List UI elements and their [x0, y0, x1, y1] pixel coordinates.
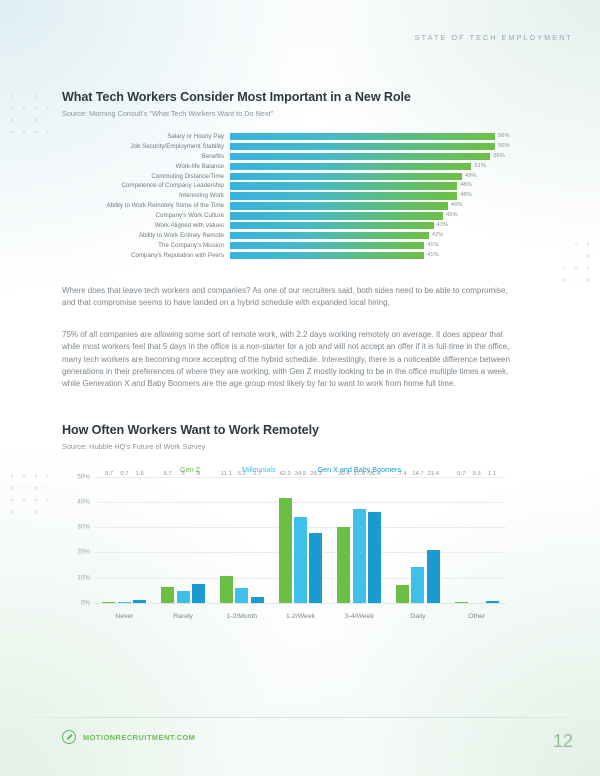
- page-header-eyebrow: STATE OF TECH EMPLOYMENT: [415, 33, 573, 42]
- bar-value-label: 1.1: [488, 471, 496, 477]
- hbar-fill: [230, 202, 448, 209]
- bar: 6.2: [235, 588, 248, 604]
- hbar-row: Company's Work Culture45%: [62, 211, 514, 220]
- hbar-value-label: 41%: [424, 251, 439, 260]
- horizontal-bar-chart: Salary or Hourly Pay56%Job Security/Empl…: [62, 132, 514, 260]
- section1-source: Source: Morning Consult's "What Tech Wor…: [62, 109, 514, 118]
- y-axis-tick-label: 0%: [81, 599, 90, 606]
- bar-column: 42.2: [279, 478, 292, 604]
- hbar-category-label: Benefits: [62, 152, 230, 161]
- hbar-fill: [230, 212, 443, 219]
- hbar-track: 41%: [230, 251, 514, 260]
- hbar-fill: [230, 192, 457, 199]
- hbar-value-label: 46%: [448, 201, 463, 210]
- y-axis-tick-label: 20%: [77, 549, 90, 556]
- bar-group: 0.70.71.6: [95, 478, 154, 604]
- x-axis-category-label: 1-2/Month: [212, 613, 271, 620]
- bar-value-label: 6.2: [238, 471, 246, 477]
- bar: 6.7: [161, 587, 174, 604]
- bar-column: 6.7: [161, 478, 174, 604]
- bar-column: 8: [192, 478, 205, 604]
- bar-value-label: 14.7: [412, 471, 423, 477]
- hbar-row: Benefits55%: [62, 152, 514, 161]
- bar-value-label: 21.4: [428, 471, 439, 477]
- hbar-value-label: 48%: [457, 181, 472, 190]
- chart-plot-area: 0.70.71.66.75811.16.22.742.234.528.330.4…: [95, 478, 506, 604]
- bar-value-label: 0.7: [457, 471, 465, 477]
- bar: 7.4: [396, 585, 409, 604]
- page-content: What Tech Workers Consider Most Importan…: [62, 90, 514, 620]
- paragraph-1: Where does that leave tech workers and c…: [62, 285, 514, 310]
- bar-column: 6.2: [235, 478, 248, 604]
- x-axis-category-label: 3-4/Week: [330, 613, 389, 620]
- bar-column: 0.7: [455, 478, 468, 604]
- hbar-fill: [230, 232, 429, 239]
- hbar-category-label: Work-life Balance: [62, 162, 230, 171]
- bar-column: 36.4: [368, 478, 381, 604]
- bar: 11.1: [220, 576, 233, 604]
- hbar-fill: [230, 173, 462, 180]
- bar-group: 30.437.836.4: [330, 478, 389, 604]
- footer-brand[interactable]: MOTIONRECRUITMENT.COM: [62, 730, 195, 744]
- hbar-track: 41%: [230, 241, 514, 250]
- bar-value-label: 6.7: [164, 471, 172, 477]
- bar-value-label: 2.7: [253, 471, 261, 477]
- bar-column: 7.4: [396, 478, 409, 604]
- hbar-category-label: Competence of Company Leadership: [62, 181, 230, 190]
- bar-group: 11.16.22.7: [212, 478, 271, 604]
- bar-column: 11.1: [220, 478, 233, 604]
- hbar-fill: [230, 242, 424, 249]
- hbar-fill: [230, 133, 495, 140]
- x-axis-category-label: 1-2/Week: [271, 613, 330, 620]
- hbar-row: Work-life Balance51%: [62, 162, 514, 171]
- hbar-track: 45%: [230, 211, 514, 220]
- bar-column: 0.7: [118, 478, 131, 604]
- hbar-row: Work Aligned with Values43%: [62, 221, 514, 230]
- bar: 34.5: [294, 517, 307, 604]
- bar-column: 37.8: [353, 478, 366, 604]
- bar-group: 7.414.721.4: [389, 478, 448, 604]
- hbar-row: Ability to Work Entirely Remote42%: [62, 231, 514, 240]
- x-axis-category-label: Rarely: [154, 613, 213, 620]
- hbar-track: 48%: [230, 191, 514, 200]
- bar: 30.4: [337, 527, 350, 604]
- hbar-fill: [230, 143, 495, 150]
- hbar-category-label: Interesting Work: [62, 191, 230, 200]
- y-axis-tick-label: 50%: [77, 473, 90, 480]
- hbar-value-label: 56%: [495, 132, 510, 141]
- bar: 36.4: [368, 512, 381, 604]
- hbar-category-label: The Company's Mission: [62, 241, 230, 250]
- pen-circle-icon: [62, 730, 76, 744]
- bar-column: 21.4: [427, 478, 440, 604]
- bar-value-label: 5: [181, 471, 184, 477]
- y-axis-tick-label: 30%: [77, 524, 90, 531]
- section2-source: Source: Hubble HQ's Future of Work Surve…: [62, 442, 514, 451]
- bar-column: 1.1: [486, 478, 499, 604]
- hbar-value-label: 51%: [471, 162, 486, 171]
- hbar-row: Company's Reputation with Peers41%: [62, 251, 514, 260]
- hbar-track: 56%: [230, 142, 514, 151]
- bar-value-label: 0.7: [105, 471, 113, 477]
- footer-divider: [0, 717, 600, 718]
- hbar-fill: [230, 222, 434, 229]
- bar-value-label: 1.6: [136, 471, 144, 477]
- hbar-value-label: 48%: [457, 191, 472, 200]
- section-important-factors: What Tech Workers Consider Most Importan…: [62, 90, 514, 260]
- hbar-value-label: 49%: [462, 172, 477, 181]
- y-axis-tick-label: 40%: [77, 499, 90, 506]
- hbar-track: 49%: [230, 172, 514, 181]
- hbar-category-label: Ability to Work Entirely Remote: [62, 231, 230, 240]
- bar-column: 1.6: [133, 478, 146, 604]
- bar-value-label: 34.5: [295, 471, 306, 477]
- hbar-category-label: Company's Work Culture: [62, 211, 230, 220]
- hbar-row: The Company's Mission41%: [62, 241, 514, 250]
- section1-title: What Tech Workers Consider Most Importan…: [62, 90, 514, 104]
- bar-column: 0.3: [470, 478, 483, 604]
- bar: 21.4: [427, 550, 440, 604]
- bar-value-label: 8: [197, 471, 200, 477]
- hbar-category-label: Commuting Distance/Time: [62, 172, 230, 181]
- bar-group: 6.758: [154, 478, 213, 604]
- hbar-row: Salary or Hourly Pay56%: [62, 132, 514, 141]
- bar-column: 34.5: [294, 478, 307, 604]
- footer-url[interactable]: MOTIONRECRUITMENT.COM: [83, 733, 195, 742]
- hbar-value-label: 42%: [429, 231, 444, 240]
- bar: 14.7: [411, 567, 424, 604]
- bar-value-label: 11.1: [221, 471, 232, 477]
- bar-column: 0.7: [102, 478, 115, 604]
- page-number: 12: [553, 731, 573, 752]
- hbar-fill: [230, 252, 424, 259]
- bar-value-label: 7.4: [398, 471, 406, 477]
- bar-group: 42.234.528.3: [271, 478, 330, 604]
- chart-x-axis-labels: NeverRarely1-2/Month1-2/Week3-4/WeekDail…: [95, 613, 506, 620]
- bar-value-label: 36.4: [369, 471, 380, 477]
- hbar-category-label: Job Security/Employment Stability: [62, 142, 230, 151]
- bar-value-label: 30.4: [338, 471, 349, 477]
- hbar-fill: [230, 153, 490, 160]
- bar-column: 5: [177, 478, 190, 604]
- bar-column: 2.7: [251, 478, 264, 604]
- bar-group: 0.70.31.1: [447, 478, 506, 604]
- bar: 42.2: [279, 498, 292, 604]
- hbar-value-label: 43%: [434, 221, 449, 230]
- hbar-category-label: Salary or Hourly Pay: [62, 132, 230, 141]
- bar-column: 28.3: [309, 478, 322, 604]
- section2-title: How Often Workers Want to Work Remotely: [62, 423, 514, 437]
- hbar-track: 46%: [230, 201, 514, 210]
- hbar-category-label: Ability to Work Remotely Some of the Tim…: [62, 201, 230, 210]
- bar-value-label: 28.3: [310, 471, 321, 477]
- bar-value-label: 37.8: [354, 471, 365, 477]
- bar-column: 30.4: [337, 478, 350, 604]
- hbar-fill: [230, 163, 471, 170]
- bar-value-label: 42.2: [279, 471, 290, 477]
- hbar-row: Job Security/Employment Stability56%: [62, 142, 514, 151]
- bar: 28.3: [309, 533, 322, 604]
- bar: 37.8: [353, 509, 366, 604]
- chart-baseline: [95, 603, 506, 604]
- hbar-track: 42%: [230, 231, 514, 240]
- hbar-track: 55%: [230, 152, 514, 161]
- hbar-row: Competence of Company Leadership48%: [62, 181, 514, 190]
- hbar-track: 48%: [230, 181, 514, 190]
- hbar-value-label: 41%: [424, 241, 439, 250]
- hbar-category-label: Work Aligned with Values: [62, 221, 230, 230]
- grouped-bar-chart: 0%10%20%30%40%50% 0.70.71.66.75811.16.22…: [62, 478, 514, 620]
- hbar-fill: [230, 182, 457, 189]
- x-axis-category-label: Daily: [389, 613, 448, 620]
- bar: 8: [192, 584, 205, 604]
- hbar-value-label: 45%: [443, 211, 458, 220]
- y-axis-tick-label: 10%: [77, 574, 90, 581]
- hbar-value-label: 55%: [490, 152, 505, 161]
- report-page: STATE OF TECH EMPLOYMENT What Tech Worke…: [0, 0, 600, 776]
- hbar-row: Commuting Distance/Time49%: [62, 172, 514, 181]
- bar-value-label: 0.3: [473, 471, 481, 477]
- hbar-row: Ability to Work Remotely Some of the Tim…: [62, 201, 514, 210]
- bar-value-label: 0.7: [120, 471, 128, 477]
- x-axis-category-label: Other: [447, 613, 506, 620]
- hbar-value-label: 56%: [495, 142, 510, 151]
- x-axis-category-label: Never: [95, 613, 154, 620]
- hbar-track: 56%: [230, 132, 514, 141]
- hbar-track: 51%: [230, 162, 514, 171]
- hbar-track: 43%: [230, 221, 514, 230]
- section-remote-frequency: How Often Workers Want to Work Remotely …: [62, 423, 514, 620]
- bar-column: 14.7: [411, 478, 424, 604]
- paragraph-2: 75% of all companies are allowing some s…: [62, 329, 514, 391]
- hbar-row: Interesting Work48%: [62, 191, 514, 200]
- hbar-category-label: Company's Reputation with Peers: [62, 251, 230, 260]
